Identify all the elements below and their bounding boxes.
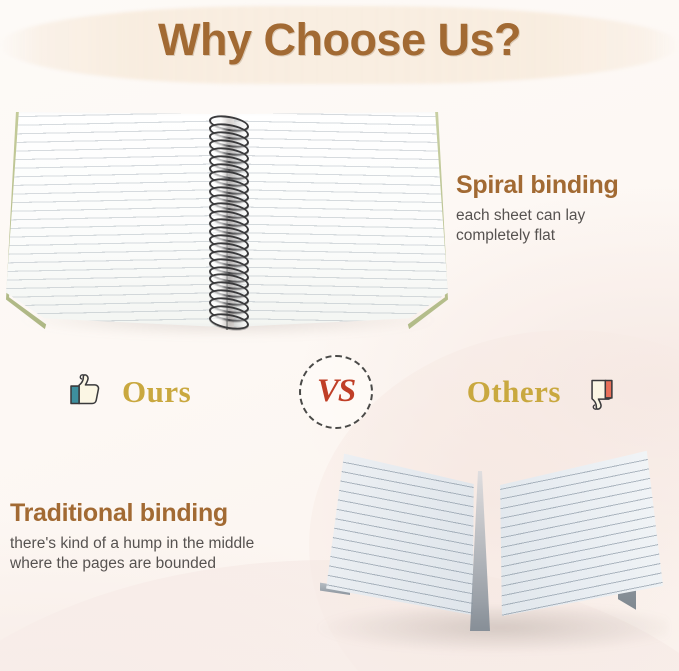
traditional-feature-body: there's kind of a hump in the middle whe… <box>10 534 340 574</box>
ours-label: Ours <box>122 374 191 410</box>
comparison-ours: Ours <box>62 352 191 432</box>
infographic-canvas: Why Choose Us? Spiral binding each sheet… <box>0 0 679 671</box>
traditional-notebook-shadow <box>318 607 668 653</box>
spiral-wire-binding <box>203 116 251 328</box>
spiral-feature-heading: Spiral binding <box>456 172 674 198</box>
others-label: Others <box>467 374 561 410</box>
page-rule-lines-right <box>234 112 448 327</box>
spiral-feature-body: each sheet can lay completely flat <box>456 206 674 246</box>
page-rule-lines-left <box>6 112 220 327</box>
versus-badge: VS <box>299 355 373 429</box>
thumbs-up-icon <box>62 369 108 415</box>
traditional-body-line-2: where the pages are bounded <box>10 555 216 572</box>
feature-block-spiral: Spiral binding each sheet can lay comple… <box>456 172 674 246</box>
feature-block-traditional: Traditional binding there's kind of a hu… <box>10 500 340 574</box>
spiral-notebook-page-right <box>234 112 448 327</box>
spiral-body-line-1: each sheet can lay <box>456 207 585 224</box>
traditional-body-line-1: there's kind of a hump in the middle <box>10 535 254 552</box>
versus-label: VS <box>317 373 355 410</box>
spiral-body-line-2: completely flat <box>456 227 555 244</box>
open-spiral-notebook-illustration <box>6 112 448 340</box>
traditional-notebook-illustration <box>318 447 670 661</box>
comparison-others: Others <box>467 352 621 432</box>
thumbs-down-icon <box>575 369 621 415</box>
traditional-feature-heading: Traditional binding <box>10 500 340 526</box>
page-title: Why Choose Us? <box>0 14 679 66</box>
spiral-notebook-page-left <box>6 112 220 327</box>
